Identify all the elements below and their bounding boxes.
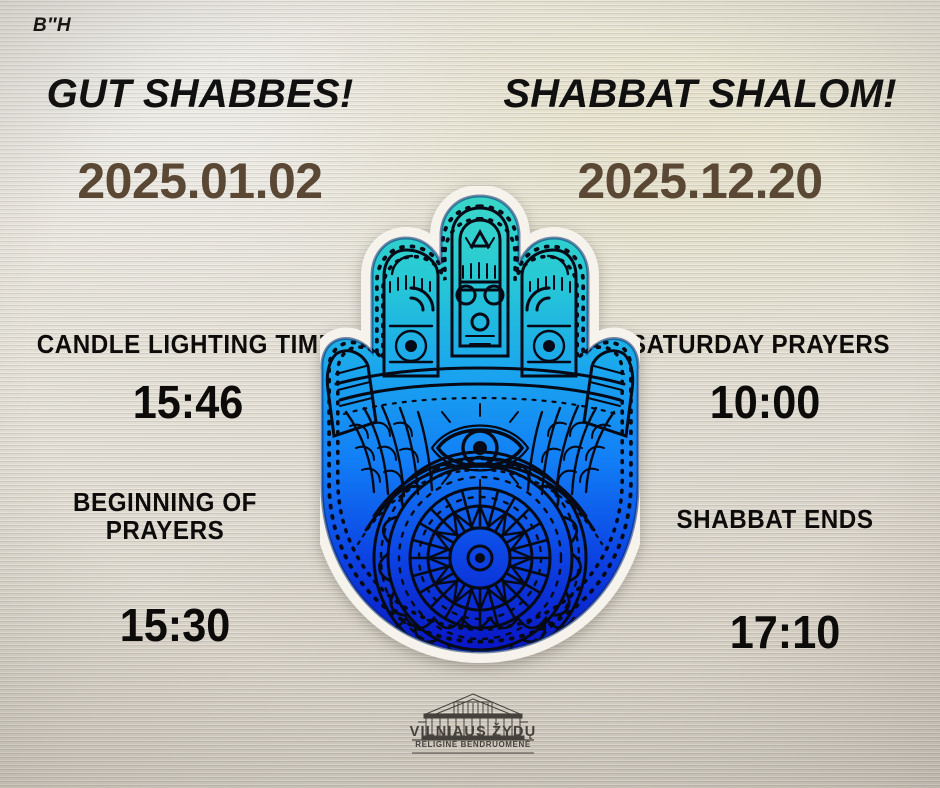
community-logo: VILNIAUS ŽYDŲ RELIGINĖ BENDRUOMENĖ — [398, 692, 548, 758]
value-beginning-of-prayers: 15:30 — [20, 598, 330, 652]
blessing-abbreviation: B″H — [33, 15, 71, 37]
greeting-hebrew: SHABBAT SHALOM! — [480, 72, 920, 117]
label-beginning-of-prayers: BEGINNING OF PRAYERS — [12, 488, 319, 544]
value-saturday-prayers: 10:00 — [610, 375, 920, 429]
hamsa-hand-icon — [320, 186, 640, 664]
greeting-yiddish: GUT SHABBES! — [0, 72, 400, 117]
label-candle-lighting-time: CANDLE LIGHTING TIME — [13, 330, 359, 358]
label-shabbat-ends: SHABBAT ENDS — [622, 505, 929, 533]
logo-organization-subtitle: RELIGINĖ BENDRUOMENĖ — [398, 740, 548, 749]
value-shabbat-ends: 17:10 — [630, 605, 940, 659]
value-candle-lighting-time: 15:46 — [28, 375, 348, 429]
logo-organization-name: VILNIAUS ŽYDŲ — [398, 724, 548, 740]
shabbat-times-poster: B″H GUT SHABBES! SHABBAT SHALOM! 2025.01… — [0, 0, 940, 788]
label-saturday-prayers: SATURDAY PRAYERS — [602, 330, 918, 358]
